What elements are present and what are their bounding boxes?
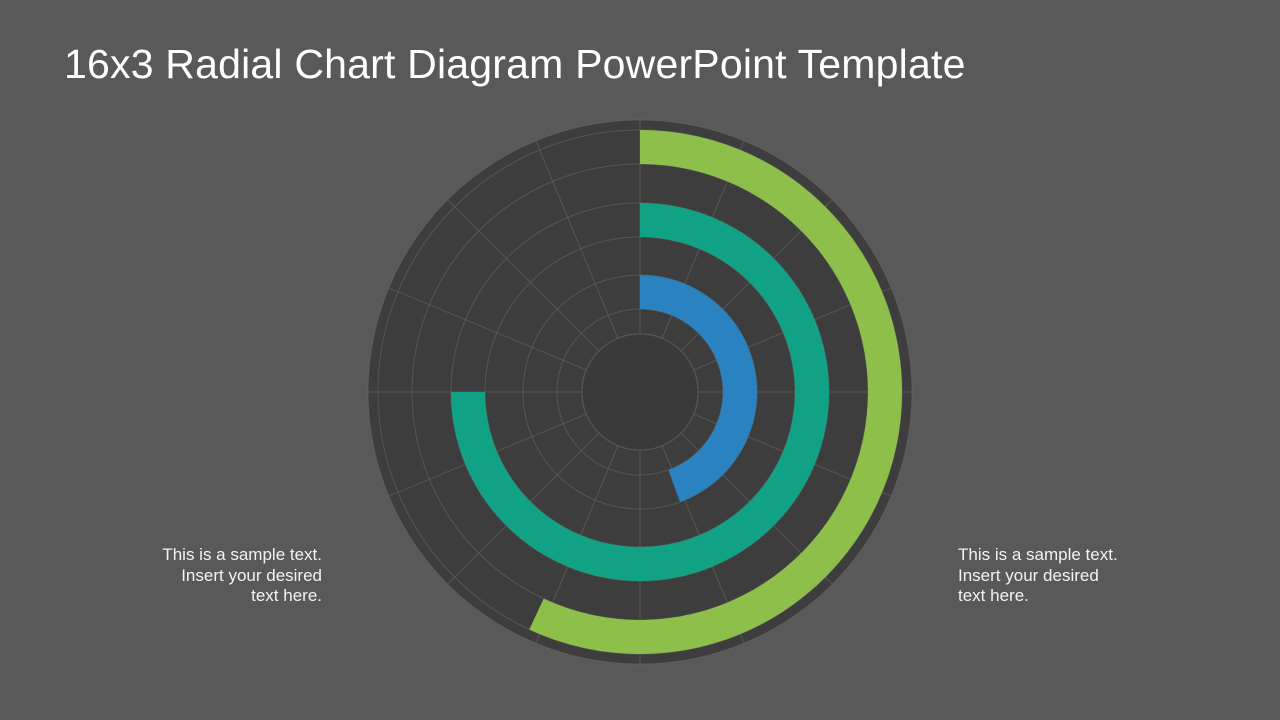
caption-left: This is a sample text. Insert your desir… <box>90 545 322 607</box>
caption-right: This is a sample text. Insert your desir… <box>958 545 1198 607</box>
slide-canvas: 16x3 Radial Chart Diagram PowerPoint Tem… <box>0 0 1280 720</box>
chart-center-hub[interactable] <box>582 334 698 450</box>
chart-root <box>368 120 912 664</box>
radial-chart-diagram[interactable] <box>0 0 1280 720</box>
